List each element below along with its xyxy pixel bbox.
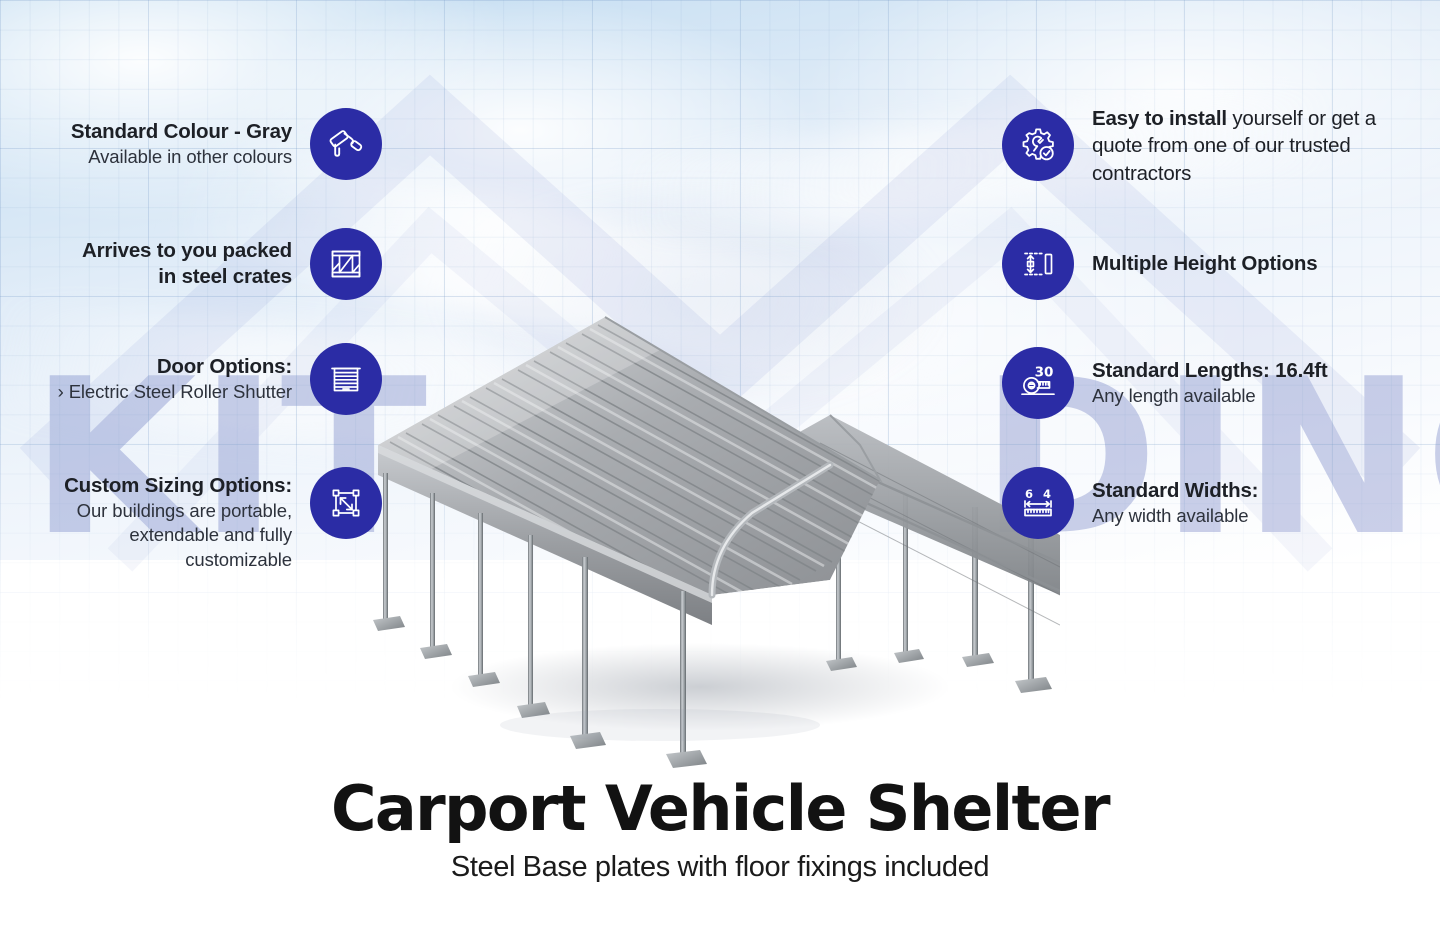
feature-standard-widths: 6 4 Standard Widths: Any width available [1002, 467, 1422, 539]
tape-measure-value: 30 [1035, 365, 1054, 381]
roller-shutter-icon[interactable] [310, 343, 382, 415]
feature-title: Easy to install yourself or get a quote … [1092, 105, 1422, 187]
feature-title: Multiple Height Options [1092, 251, 1422, 277]
paint-roller-icon[interactable] [310, 108, 382, 180]
feature-title: Standard Lengths: 16.4ft [1092, 358, 1422, 384]
width-value-right: 4 [1043, 487, 1051, 501]
feature-subtitle-row: › Electric Steel Roller Shutter [20, 380, 292, 404]
feature-title: Standard Widths: [1092, 478, 1422, 504]
width-ruler-icon[interactable]: 6 4 [1002, 467, 1074, 539]
height-measure-icon[interactable] [1002, 228, 1074, 300]
feature-door-options: Door Options: › Electric Steel Roller Sh… [20, 343, 382, 415]
page-title: Carport Vehicle Shelter [0, 776, 1440, 842]
feature-easy-to-install: Easy to install yourself or get a quote … [1002, 105, 1422, 187]
feature-title: Door Options: [20, 354, 292, 380]
feature-title-line2: in steel crates [20, 264, 292, 290]
tape-measure-icon[interactable]: 30 [1002, 347, 1074, 419]
feature-subtitle: Available in other colours [20, 145, 292, 169]
feature-title-bold: Easy to install [1092, 107, 1227, 130]
feature-title: Standard Colour - Gray [20, 119, 292, 145]
page-subtitle: Steel Base plates with floor fixings inc… [0, 850, 1440, 885]
feature-subtitle: Any length available [1092, 384, 1422, 408]
feature-subtitle: Any width available [1092, 504, 1422, 528]
feature-height-options: Multiple Height Options [1002, 228, 1422, 300]
carport-product-image [360, 295, 1060, 775]
infographic-canvas: KIT DING [0, 0, 1440, 951]
feature-title-line1: Arrives to you packed [20, 238, 292, 264]
feature-title: Custom Sizing Options: [20, 473, 292, 499]
feature-standard-lengths: 30 Standard Lengths: 16.4ft Any length a… [1002, 347, 1422, 419]
feature-steel-crates: Arrives to you packed in steel crates [20, 228, 382, 300]
feature-subtitle: Electric Steel Roller Shutter [69, 381, 292, 402]
steel-crate-icon[interactable] [310, 228, 382, 300]
width-value-left: 6 [1025, 487, 1033, 501]
caption-block: Carport Vehicle Shelter Steel Base plate… [0, 776, 1440, 885]
feature-standard-colour: Standard Colour - Gray Available in othe… [20, 108, 382, 180]
bullet-chevron: › [58, 381, 64, 402]
resize-frame-icon[interactable] [310, 467, 382, 539]
gear-wrench-check-icon[interactable] [1002, 109, 1074, 181]
feature-custom-sizing: Custom Sizing Options: Our buildings are… [20, 467, 382, 572]
feature-subtitle: Our buildings are portable, extendable a… [20, 499, 292, 572]
